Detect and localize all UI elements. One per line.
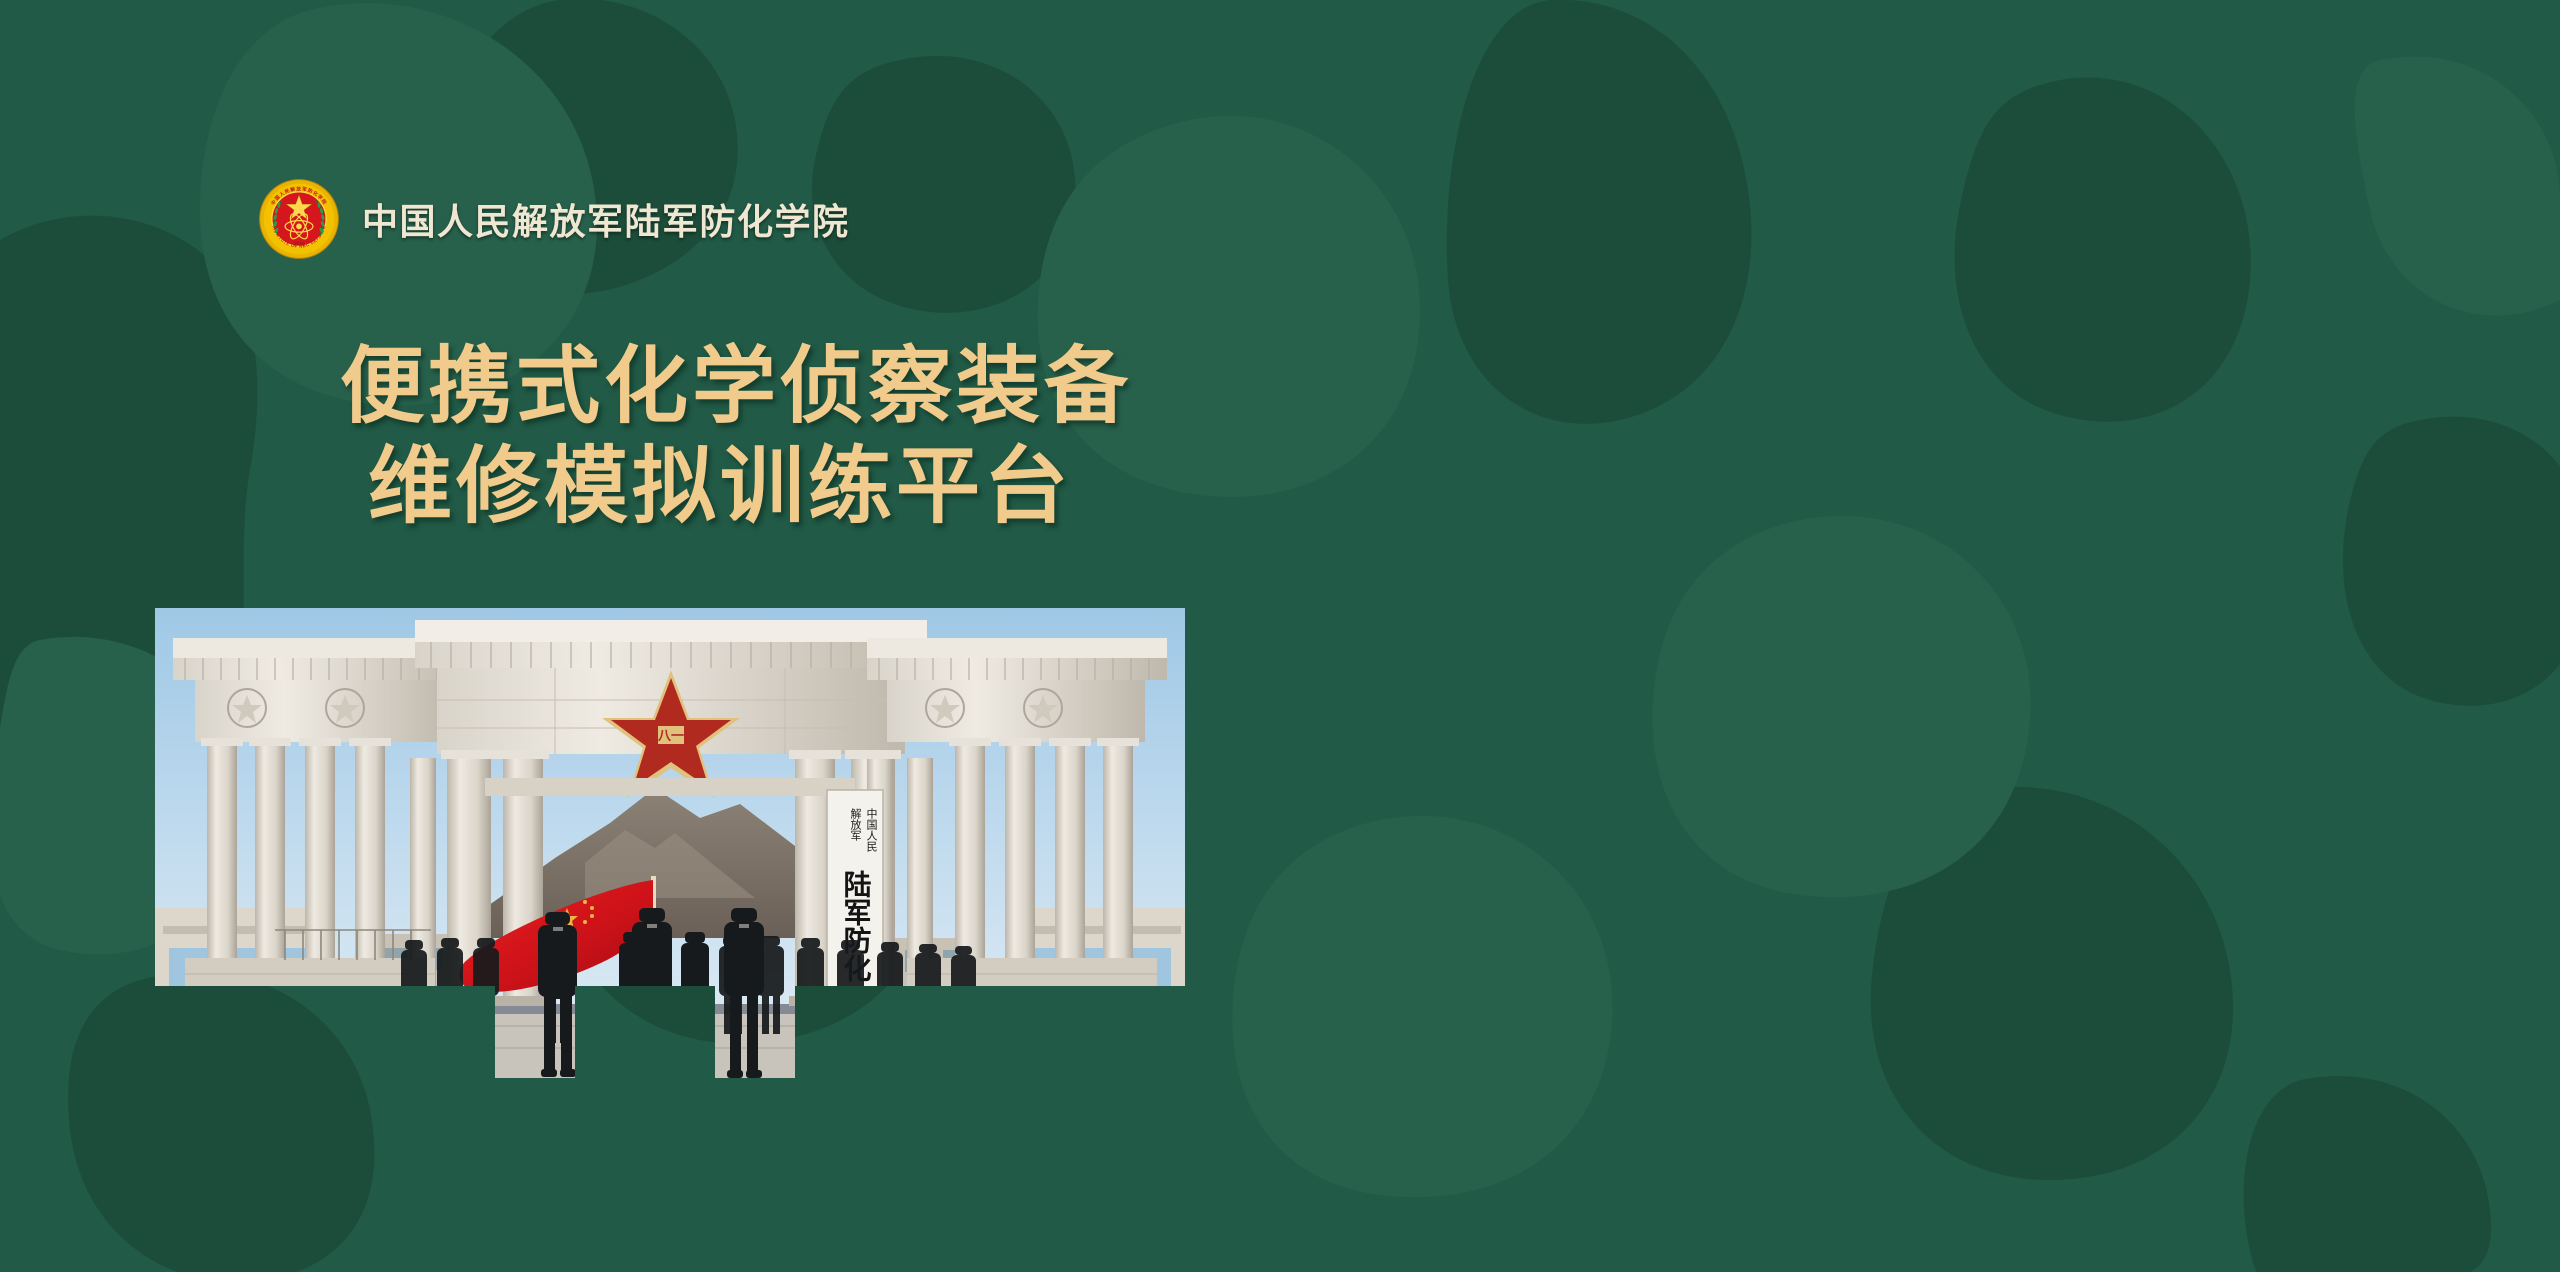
splash-stage: 中国人民解放军防化学院 INSTITUTE OF NBC DEFENCE bbox=[0, 0, 2560, 1272]
front-rank bbox=[538, 908, 764, 1078]
institute-name: 中国人民解放军陆军防化学院 bbox=[362, 193, 850, 245]
page-title: 便携式化学侦察装备 维修模拟训练平台 bbox=[340, 338, 1340, 538]
title-line-1: 便携式化学侦察装备 bbox=[340, 338, 1340, 438]
academy-emblem-icon: 中国人民解放军防化学院 INSTITUTE OF NBC DEFENCE bbox=[258, 178, 340, 260]
vertical-sign: 中国人民 解放军 陆军防化 bbox=[827, 790, 883, 1052]
title-line-2: 维修模拟训练平台 bbox=[340, 438, 1340, 538]
vertical-sign-small-text: 中国人民 bbox=[865, 808, 878, 853]
plaza-paving bbox=[155, 1004, 1185, 1148]
academy-gate-photo: 八一 bbox=[155, 608, 1185, 1148]
svg-text:解放军: 解放军 bbox=[849, 807, 862, 842]
brand-row: 中国人民解放军防化学院 INSTITUTE OF NBC DEFENCE bbox=[258, 178, 850, 260]
pla-star-text: 八一 bbox=[657, 728, 684, 743]
